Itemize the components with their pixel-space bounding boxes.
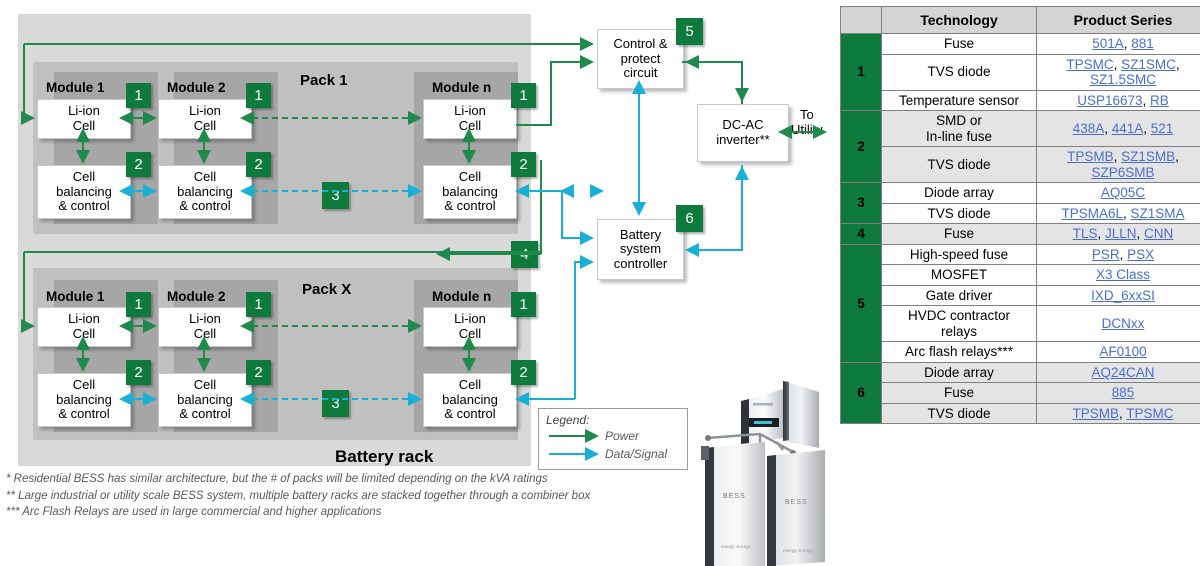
pack-x-module-1-cell: Li-ion Cell (37, 307, 131, 347)
cell-label: Li-ion Cell (189, 312, 221, 341)
footnotes: * Residential BESS has similar architect… (6, 471, 706, 521)
pack-x-module-1-cell-badge: 1 (126, 292, 151, 317)
table-row: HVDC contractor relaysDCNxx (841, 306, 1200, 342)
technology-cell: Fuse (882, 224, 1037, 245)
svg-text:BESS: BESS (785, 499, 808, 506)
technology-cell: Fuse (882, 383, 1037, 404)
product-series-cell: PSR, PSX (1037, 244, 1200, 265)
group-number-cell: 5 (841, 244, 882, 362)
legend-power-label: Power (605, 429, 639, 443)
pack-1-module-2-control: Cell balancing & control (158, 165, 252, 219)
product-link[interactable]: AQ24CAN (1091, 365, 1154, 380)
product-link[interactable]: SZ1SMA (1131, 206, 1185, 221)
table-row: TVS diodeTPSMB, TPSMC (841, 403, 1200, 424)
table-row: Temperature sensorUSP16673, RB (841, 90, 1200, 111)
technology-cell: Gate driver (882, 285, 1037, 306)
product-link[interactable]: PSR (1092, 247, 1120, 262)
group-number-cell: 3 (841, 183, 882, 224)
product-link[interactable]: AQ05C (1101, 185, 1145, 200)
technology-cell: Arc flash relays*** (882, 342, 1037, 363)
product-link[interactable]: AF0100 (1099, 344, 1146, 359)
battery-controller-badge: 6 (676, 205, 703, 232)
product-series-cell: TPSMB, TPSMC (1037, 403, 1200, 424)
group-number-cell: 2 (841, 111, 882, 183)
control-protect-badge: 5 (676, 18, 703, 45)
table-header-row: Technology Product Series (841, 7, 1200, 34)
product-separator: , (1143, 121, 1151, 136)
product-separator: , (1104, 121, 1112, 136)
table-row: TVS diodeTPSMB, SZ1SMB, SZP6SMB (841, 147, 1200, 183)
cell-label: Li-ion Cell (68, 104, 100, 133)
product-link[interactable]: TPSMB (1067, 149, 1114, 164)
pack-1-module-n-label: Module n (432, 80, 491, 95)
pack-x-module-2-control: Cell balancing & control (158, 373, 252, 427)
pack-1-module-2-control-badge: 2 (246, 152, 271, 177)
header-group (841, 7, 882, 34)
product-link[interactable]: RB (1150, 93, 1169, 108)
product-link[interactable]: 521 (1151, 121, 1174, 136)
control-label: Cell balancing & control (442, 170, 498, 214)
battery-storage-photo: BESS BESS energy storage energy storage (697, 376, 832, 566)
group-number-cell: 1 (841, 34, 882, 111)
product-series-cell: AQ05C (1037, 183, 1200, 204)
product-series-table-panel: Technology Product Series 1Fuse501A, 881… (836, 0, 1200, 566)
product-series-cell: 501A, 881 (1037, 34, 1200, 55)
product-series-cell: AQ24CAN (1037, 362, 1200, 383)
footnote-3: *** Arc Flash Relays are used in large c… (6, 504, 706, 521)
technology-cell: TVS diode (882, 147, 1037, 183)
product-series-table: Technology Product Series 1Fuse501A, 881… (840, 6, 1200, 424)
bess-architecture-diagram: Pack 1 Module 1 Li-ion Cell 1 Cell balan… (0, 0, 836, 566)
control-label: Cell balancing & control (177, 170, 233, 214)
product-link[interactable]: PSX (1127, 247, 1154, 262)
cell-label: Li-ion Cell (68, 312, 100, 341)
control-label: Cell balancing & control (442, 378, 498, 422)
pack-x-module-1-control-badge: 2 (126, 360, 151, 385)
product-link[interactable]: 501A (1092, 36, 1124, 51)
product-separator: , (1176, 57, 1180, 72)
pack-x-module-n-cell: Li-ion Cell (423, 307, 517, 347)
product-link[interactable]: SZ1SMC (1121, 57, 1176, 72)
pack-x-bus-badge: 3 (322, 390, 349, 417)
table-row: MOSFETX3 Class (841, 265, 1200, 286)
product-link[interactable]: TPSMC (1126, 406, 1173, 421)
product-link[interactable]: USP16673 (1077, 93, 1142, 108)
inverter-label: DC-AC inverter** (716, 118, 769, 147)
footnote-1: * Residential BESS has similar architect… (6, 471, 706, 488)
product-series-cell: 438A, 441A, 521 (1037, 111, 1200, 147)
table-row: 1Fuse501A, 881 (841, 34, 1200, 55)
control-protect-label: Control & protect circuit (613, 37, 667, 81)
product-series-cell: AF0100 (1037, 342, 1200, 363)
table-row: 3Diode arrayAQ05C (841, 183, 1200, 204)
technology-cell: Diode array (882, 183, 1037, 204)
product-link[interactable]: SZ1.5SMC (1090, 72, 1156, 87)
product-link[interactable]: SZP6SMB (1091, 165, 1154, 180)
product-series-cell: USP16673, RB (1037, 90, 1200, 111)
pack-x-module-2-control-badge: 2 (246, 360, 271, 385)
technology-cell: TVS diode (882, 403, 1037, 424)
table-row: Fuse885 (841, 383, 1200, 404)
pack-x-module-n-cell-badge: 1 (511, 292, 536, 317)
product-separator: , (1137, 226, 1145, 241)
technology-cell: SMD or In-line fuse (882, 111, 1037, 147)
product-link[interactable]: 881 (1131, 36, 1154, 51)
product-link[interactable]: SZ1SMB (1121, 149, 1175, 164)
product-series-cell: 885 (1037, 383, 1200, 404)
pack-1-module-1-control-badge: 2 (126, 152, 151, 177)
product-link[interactable]: CNN (1144, 226, 1173, 241)
pack-1-module-2-cell-badge: 1 (246, 83, 271, 108)
product-series-cell: TPSMC, SZ1SMC, SZ1.5SMC (1037, 54, 1200, 90)
group-number-cell: 4 (841, 224, 882, 245)
control-label: Cell balancing & control (56, 170, 112, 214)
table-row: Gate driverIXD_6xxSI (841, 285, 1200, 306)
product-separator: , (1114, 149, 1122, 164)
pack-x-module-n-control-badge: 2 (511, 360, 536, 385)
product-link[interactable]: TPSMB (1072, 406, 1119, 421)
product-link[interactable]: 885 (1112, 385, 1135, 400)
control-protect-circuit-block: Control & protect circuit (597, 29, 684, 89)
pack-1-module-1-control: Cell balancing & control (37, 165, 131, 219)
svg-text:energy storage: energy storage (783, 548, 814, 553)
product-series-cell: TPSMA6L, SZ1SMA (1037, 203, 1200, 224)
pack-1-module-1-label: Module 1 (46, 80, 105, 95)
product-separator: , (1114, 57, 1122, 72)
table-row: 6Diode arrayAQ24CAN (841, 362, 1200, 383)
pack-1-bus-badge: 3 (322, 182, 349, 209)
cell-label: Li-ion Cell (454, 104, 486, 133)
pack-1-module-n-cell: Li-ion Cell (423, 99, 517, 139)
technology-cell: Diode array (882, 362, 1037, 383)
pack-x-module-n-label: Module n (432, 289, 491, 304)
pack-x-module-n-control: Cell balancing & control (423, 373, 517, 427)
pack-1-module-n-cell-badge: 1 (511, 83, 536, 108)
control-label: Cell balancing & control (177, 378, 233, 422)
pack-1-module-n-control: Cell balancing & control (423, 165, 517, 219)
pack-1-module-2-label: Module 2 (167, 80, 226, 95)
to-utility-label: To Utility (791, 108, 823, 137)
cell-label: Li-ion Cell (454, 312, 486, 341)
table-row: Arc flash relays***AF0100 (841, 342, 1200, 363)
product-series-cell: X3 Class (1037, 265, 1200, 286)
table-row: 5High-speed fusePSR, PSX (841, 244, 1200, 265)
dc-ac-inverter-block: DC-AC inverter** (697, 104, 789, 162)
footnote-2: ** Large industrial or utility scale BES… (6, 488, 706, 505)
pack-x-label: Pack X (302, 281, 351, 298)
svg-text:energy storage: energy storage (721, 544, 752, 549)
battery-rack-title: Battery rack (335, 447, 433, 467)
cell-label: Li-ion Cell (189, 104, 221, 133)
pack-x-module-1-label: Module 1 (46, 289, 105, 304)
group-number-cell: 6 (841, 362, 882, 424)
technology-cell: High-speed fuse (882, 244, 1037, 265)
legend-signal-label: Data/Signal (605, 447, 667, 461)
product-separator: , (1120, 247, 1128, 262)
table-row: TVS diodeTPSMA6L, SZ1SMA (841, 203, 1200, 224)
svg-text:BESS: BESS (723, 493, 746, 500)
product-link[interactable]: X3 Class (1096, 267, 1150, 282)
pack-x-module-1-control: Cell balancing & control (37, 373, 131, 427)
product-separator: , (1175, 149, 1179, 164)
product-link[interactable]: TLS (1073, 226, 1098, 241)
pack-x-module-2-label: Module 2 (167, 289, 226, 304)
product-series-cell: TLS, JLLN, CNN (1037, 224, 1200, 245)
technology-cell: TVS diode (882, 54, 1037, 90)
technology-cell: Temperature sensor (882, 90, 1037, 111)
pack-1-module-1-cell-badge: 1 (126, 83, 151, 108)
battery-controller-label: Battery system controller (614, 228, 667, 272)
battery-system-controller-block: Battery system controller (597, 219, 684, 280)
pack-x-module-2-cell-badge: 1 (246, 292, 271, 317)
product-link[interactable]: IXD_6xxSI (1091, 288, 1155, 303)
control-label: Cell balancing & control (56, 378, 112, 422)
table-row: TVS diodeTPSMC, SZ1SMC, SZ1.5SMC (841, 54, 1200, 90)
pack-1-label: Pack 1 (300, 72, 348, 89)
table-body: 1Fuse501A, 881TVS diodeTPSMC, SZ1SMC, SZ… (841, 34, 1200, 424)
pack-link-badge: 4 (511, 241, 538, 268)
table-row: 4FuseTLS, JLLN, CNN (841, 224, 1200, 245)
table-row: 2SMD or In-line fuse438A, 441A, 521 (841, 111, 1200, 147)
pack-1-module-1-cell: Li-ion Cell (37, 99, 131, 139)
technology-cell: Fuse (882, 34, 1037, 55)
pack-1-module-n-control-badge: 2 (511, 152, 536, 177)
product-link[interactable]: TPSMA6L (1061, 206, 1123, 221)
technology-cell: TVS diode (882, 203, 1037, 224)
pack-x-module-2-cell: Li-ion Cell (158, 307, 252, 347)
product-link[interactable]: TPSMC (1066, 57, 1113, 72)
product-link[interactable]: 438A (1073, 121, 1105, 136)
pack-1-module-2-cell: Li-ion Cell (158, 99, 252, 139)
technology-cell: HVDC contractor relays (882, 306, 1037, 342)
product-series-cell: IXD_6xxSI (1037, 285, 1200, 306)
technology-cell: MOSFET (882, 265, 1037, 286)
product-series-cell: TPSMB, SZ1SMB, SZP6SMB (1037, 147, 1200, 183)
product-separator: , (1123, 206, 1131, 221)
header-technology: Technology (882, 7, 1037, 34)
product-link[interactable]: 441A (1112, 121, 1144, 136)
header-product-series: Product Series (1037, 7, 1200, 34)
product-series-cell: DCNxx (1037, 306, 1200, 342)
product-link[interactable]: JLLN (1105, 226, 1137, 241)
product-separator: , (1143, 93, 1151, 108)
product-link[interactable]: DCNxx (1102, 316, 1145, 331)
legend-box: Legend: Power Data/Signal (538, 408, 688, 470)
product-separator: , (1097, 226, 1105, 241)
